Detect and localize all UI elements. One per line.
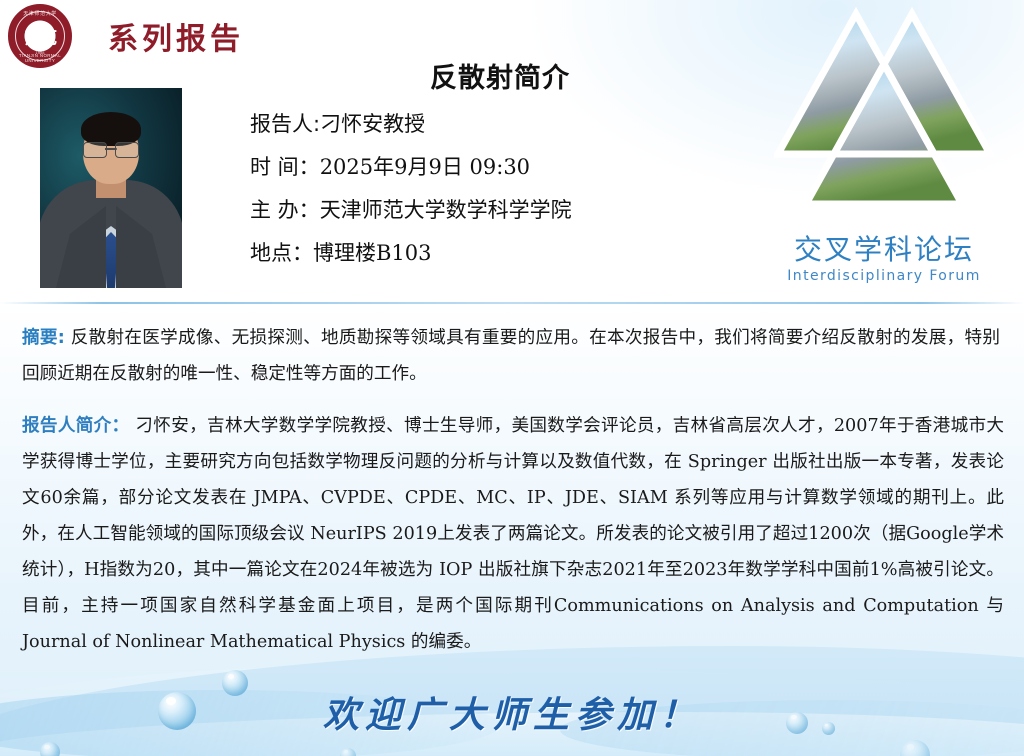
- speaker-label: 报告人:: [250, 108, 320, 138]
- seal-center-text: 师范: [24, 24, 56, 49]
- info-row-venue: 地点： 博理楼B103: [250, 237, 790, 267]
- talk-info-block: 报告人: 刁怀安教授 时 间： 2025年9月9日 09:30 主 办： 天津师…: [250, 108, 790, 280]
- abstract-label: 摘要:: [22, 328, 65, 348]
- info-row-time: 时 间： 2025年9月9日 09:30: [250, 151, 790, 181]
- bubble-decoration-3: [40, 742, 60, 756]
- venue-value: 博理楼B103: [313, 237, 432, 267]
- page-title: 反散射简介: [240, 56, 760, 95]
- bubble-decoration-7: [340, 748, 356, 756]
- bio-label: 报告人简介：: [22, 415, 129, 436]
- series-title: 系列报告: [108, 14, 244, 58]
- venue-label: 地点：: [250, 237, 313, 267]
- bubble-decoration-6: [900, 740, 930, 756]
- host-label: 主 办：: [250, 194, 320, 224]
- host-value: 天津师范大学数学科学学院: [320, 194, 572, 224]
- abstract-text: 反散射在医学成像、无损探测、地质勘探等领域具有重要的应用。在本次报告中，我们将简…: [22, 328, 1000, 384]
- interdisciplinary-forum-logo: 交叉学科论坛 Interdisciplinary Forum: [762, 6, 1006, 298]
- forum-name-cn: 交叉学科论坛: [762, 228, 1006, 268]
- welcome-message: 欢迎广大师生参加！: [0, 686, 1024, 738]
- info-row-speaker: 报告人: 刁怀安教授: [250, 108, 790, 138]
- portrait-hair: [81, 112, 141, 146]
- forum-name-en: Interdisciplinary Forum: [762, 268, 1006, 284]
- university-seal-logo: 天津师范大学 师范 1958 TIANJIN NORMAL UNIVERSITY: [8, 4, 72, 68]
- section-divider: [0, 302, 1024, 304]
- time-value: 2025年9月9日 09:30: [320, 151, 530, 181]
- speaker-portrait-photo: [40, 88, 182, 288]
- seal-arc-bottom-text: TIANJIN NORMAL UNIVERSITY: [10, 53, 70, 63]
- bio-paragraph: 报告人简介： 刁怀安，吉林大学数学学院教授、博士生导师，美国数学会评论员，吉林省…: [22, 408, 1004, 660]
- time-label: 时 间：: [250, 151, 320, 181]
- bio-text: 刁怀安，吉林大学数学学院教授、博士生导师，美国数学会评论员，吉林省高层次人才，2…: [22, 416, 1004, 652]
- portrait-glasses: [83, 142, 139, 157]
- seminar-poster: 天津师范大学 师范 1958 TIANJIN NORMAL UNIVERSITY…: [0, 0, 1024, 756]
- triangle-logo-icon: [774, 6, 994, 222]
- abstract-paragraph: 摘要: 反散射在医学成像、无损探测、地质勘探等领域具有重要的应用。在本次报告中，…: [22, 320, 1000, 392]
- seal-arc-top-text: 天津师范大学: [10, 10, 70, 17]
- speaker-name: 刁怀安教授: [320, 108, 425, 138]
- info-row-host: 主 办： 天津师范大学数学科学学院: [250, 194, 790, 224]
